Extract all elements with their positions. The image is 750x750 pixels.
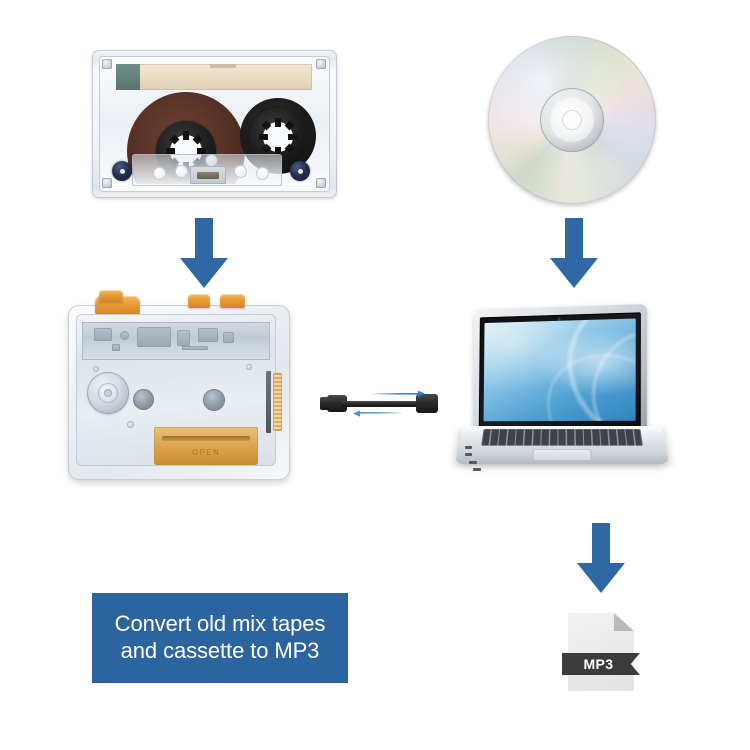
laptop-screen-bezel [479,312,641,427]
mechanism-part [198,328,218,342]
player-side-connector-body [266,371,271,433]
cassette-capstan-hole-right [256,167,269,180]
mechanism-part [177,330,190,346]
arrow-cassette-to-player [174,218,234,290]
cassette-screw-top-right [316,59,326,69]
mechanism-part [137,327,171,347]
mp3-badge-label: MP3 [584,656,614,672]
player-rewind-button[interactable] [188,294,210,308]
player-tape-mechanism [82,322,270,360]
player-left-gear [133,389,154,410]
cassette-screw-bottom-right [316,178,326,188]
cassette-screw-bottom-left [102,178,112,188]
laptop-port [465,453,472,456]
cassette-player-converter: OPEN [68,305,290,480]
callout-line-2: and cassette to MP3 [121,638,320,663]
player-left-reel-core [104,389,112,397]
mechanism-part [223,332,234,343]
player-screw-dot [246,364,252,370]
cassette-center-guide [205,154,218,167]
laptop-computer [462,306,662,486]
cassette-drive-hole-dot [120,169,125,174]
cassette-tape [92,50,337,198]
laptop-lid [473,304,647,434]
hub-tooth [275,118,281,127]
laptop-port [465,446,472,449]
cassette-drive-hole-dot [298,169,303,174]
cassette-label-teal-block [116,64,140,90]
player-right-gear [203,389,225,411]
player-screw-dot [93,366,99,372]
cassette-head-slot [197,172,219,179]
player-screw-dot [127,421,134,428]
cassette-pinch-hole-left [175,165,188,178]
player-forward-button[interactable] [220,294,245,308]
cassette-capstan-hole-left [153,167,166,180]
player-play-button-cap[interactable] [99,290,123,302]
callout-line-1: Convert old mix tapes [115,611,326,636]
cassette-drive-hole-left [112,161,132,181]
mechanism-part [112,344,120,351]
laptop-port [473,468,481,471]
player-open-label: OPEN [154,448,258,457]
player-side-connector-ribs[interactable] [273,373,282,431]
cassette-drive-hole-right [290,161,310,181]
player-open-door-groove [162,436,250,441]
laptop-trackpad[interactable] [532,449,592,461]
hub-tooth [288,134,297,140]
cassette-screw-top-left [102,59,112,69]
laptop-port [469,461,477,464]
mechanism-part [94,328,112,341]
mp3-file-icon: MP3 [568,613,634,691]
cd-center-hole [562,110,582,130]
usb-data-flow-arrows [346,387,440,423]
hub-tooth [285,144,295,154]
usb-data-cable [320,392,440,416]
infographic-canvas: OPEN [0,0,750,750]
laptop-screen-wallpaper [484,319,636,422]
mp3-file-banner: MP3 [562,653,640,675]
player-open-door[interactable] [154,427,258,465]
mechanism-part [120,331,129,340]
callout-text: Convert old mix tapes and cassette to MP… [109,611,332,665]
compact-disc [488,36,656,204]
arrow-cd-to-laptop [544,218,604,290]
arrow-laptop-to-mp3 [571,523,631,595]
hub-tooth [183,131,189,140]
hub-tooth [259,134,268,140]
callout-banner: Convert old mix tapes and cassette to MP… [92,593,348,683]
cassette-label-notch [210,64,236,68]
laptop-base [455,426,669,464]
mechanism-part [182,346,208,350]
laptop-keyboard[interactable] [481,429,643,446]
cassette-pinch-hole-right [234,165,247,178]
